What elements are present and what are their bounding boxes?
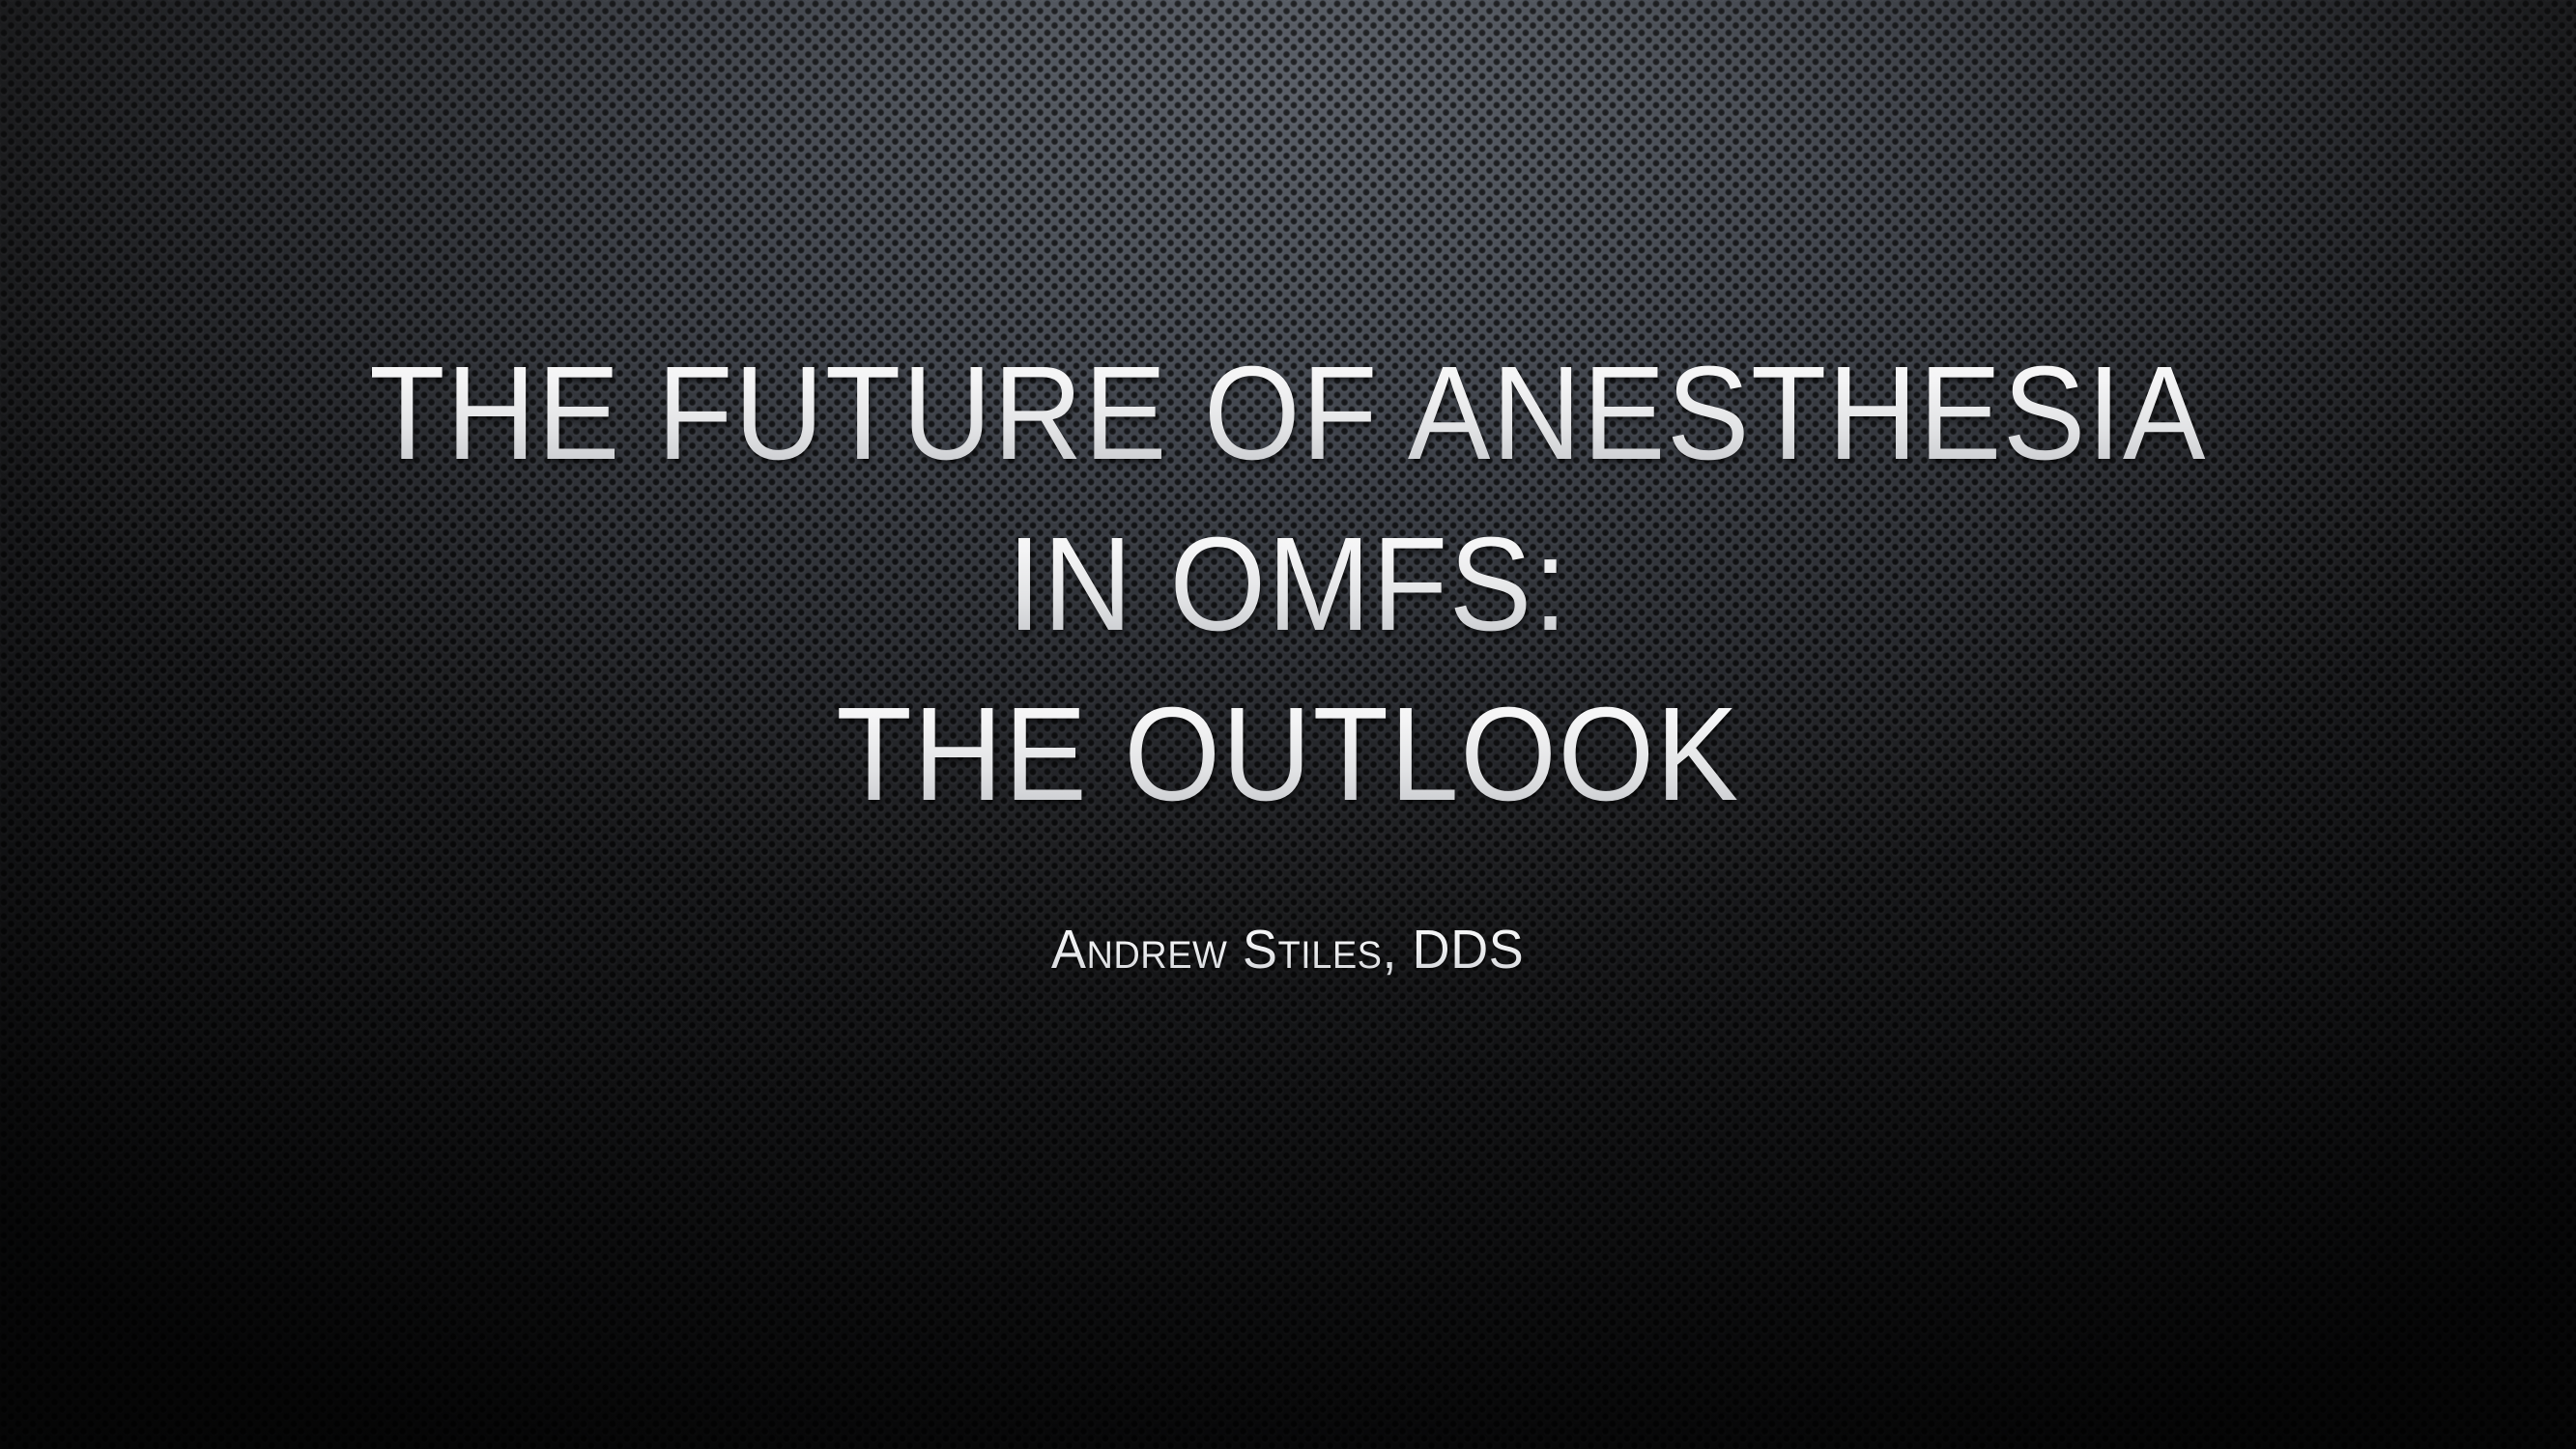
title-line-2: in OMFS: xyxy=(90,499,2485,670)
title-slide: The Future of Anesthesia in OMFS: The Ou… xyxy=(0,0,2576,1449)
title-line-1: The Future of Anesthesia xyxy=(90,328,2485,499)
slide-title: The Future of Anesthesia in OMFS: The Ou… xyxy=(0,328,2576,840)
title-line-3: The Outlook xyxy=(90,669,2485,840)
presenter-name: Andrew Stiles, DDS xyxy=(1051,920,1524,980)
slide-subtitle: Andrew Stiles, DDS xyxy=(0,920,2576,980)
slide-content: The Future of Anesthesia in OMFS: The Ou… xyxy=(0,0,2576,1449)
